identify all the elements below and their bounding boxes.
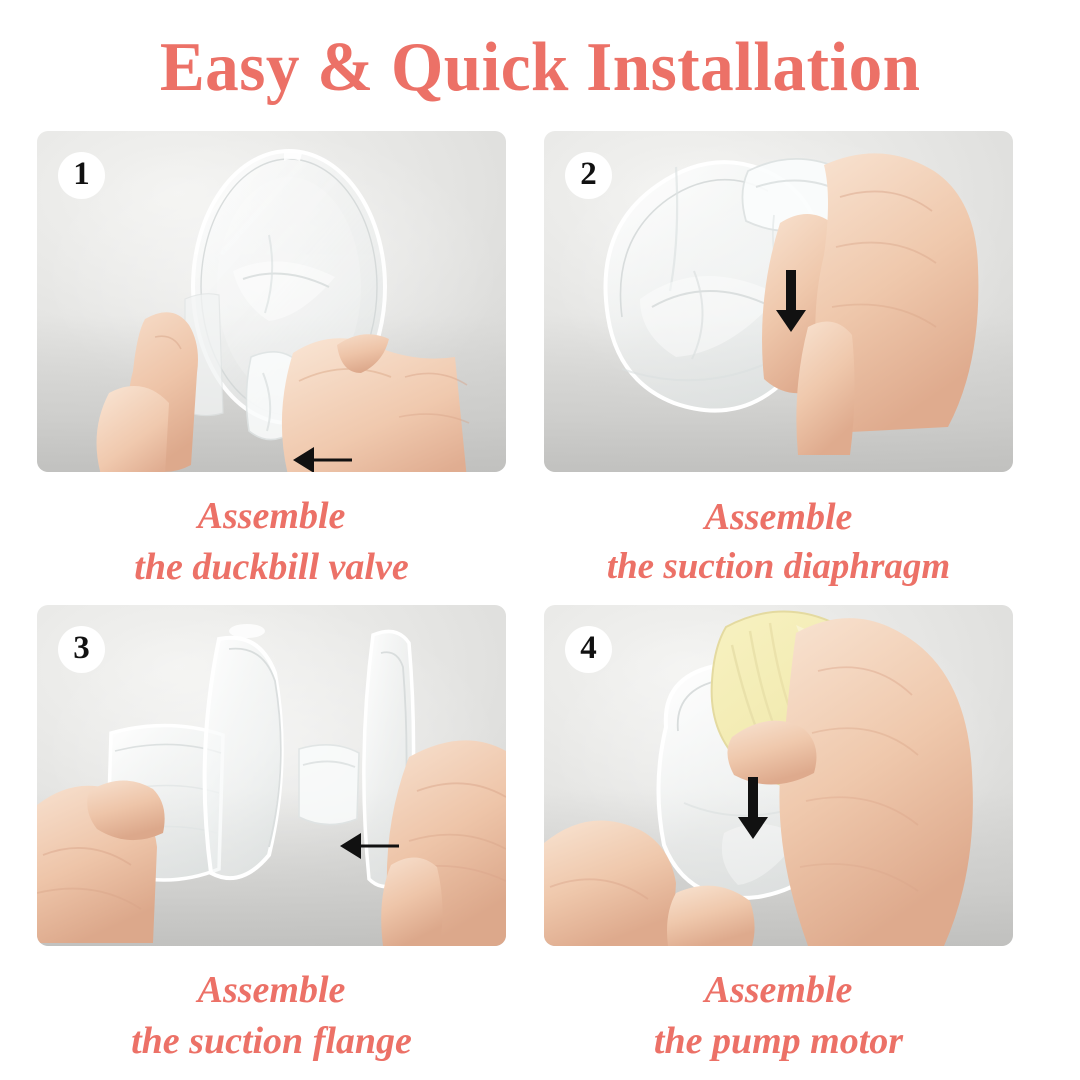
step-3-caption-line1: Assemble <box>198 965 346 1016</box>
step-1-caption-line1: Assemble <box>198 491 346 542</box>
arrow-down-icon <box>772 268 810 334</box>
step-2-number: 2 <box>580 158 597 191</box>
step-4-artwork <box>544 605 1013 946</box>
page-title: Easy & Quick Installation <box>0 24 1080 112</box>
step-4-caption: Assemble the pump motor <box>544 946 1013 1079</box>
step-2-badge: 2 <box>565 152 612 199</box>
step-1-number: 1 <box>73 158 90 191</box>
step-3-caption-line2: the suction flange <box>131 1016 412 1067</box>
step-3-photo: 3 <box>37 605 506 946</box>
page-title-text: Easy & Quick Installation <box>160 33 921 103</box>
step-4-badge: 4 <box>565 626 612 673</box>
steps-grid: 1 <box>37 131 1043 1061</box>
arrow-down-icon <box>734 775 772 841</box>
step-2-caption-line1: Assemble <box>705 492 853 543</box>
step-1-photo: 1 <box>37 131 506 472</box>
step-1-badge: 1 <box>58 152 105 199</box>
step-4-caption-line1: Assemble <box>705 965 853 1016</box>
step-3-number: 3 <box>73 632 90 665</box>
step-2-caption: Assemble the suction diaphragm <box>544 472 1013 605</box>
step-2-photo: 2 <box>544 131 1013 472</box>
step-4-caption-line2: the pump motor <box>654 1016 903 1067</box>
arrow-left-icon <box>337 827 401 865</box>
step-2-caption-line2: the suction diaphragm <box>607 542 950 591</box>
step-3-caption: Assemble the suction flange <box>37 946 506 1079</box>
step-1-caption-line2: the duckbill valve <box>134 542 408 593</box>
step-1-caption: Assemble the duckbill valve <box>37 472 506 605</box>
step-3-badge: 3 <box>58 626 105 673</box>
step-4-photo: 4 <box>544 605 1013 946</box>
arrow-left-icon <box>290 441 354 472</box>
step-1-artwork <box>37 131 506 472</box>
installation-infographic: Easy & Quick Installation <box>0 0 1080 1080</box>
step-3-artwork <box>37 605 506 946</box>
step-4-number: 4 <box>580 632 597 665</box>
